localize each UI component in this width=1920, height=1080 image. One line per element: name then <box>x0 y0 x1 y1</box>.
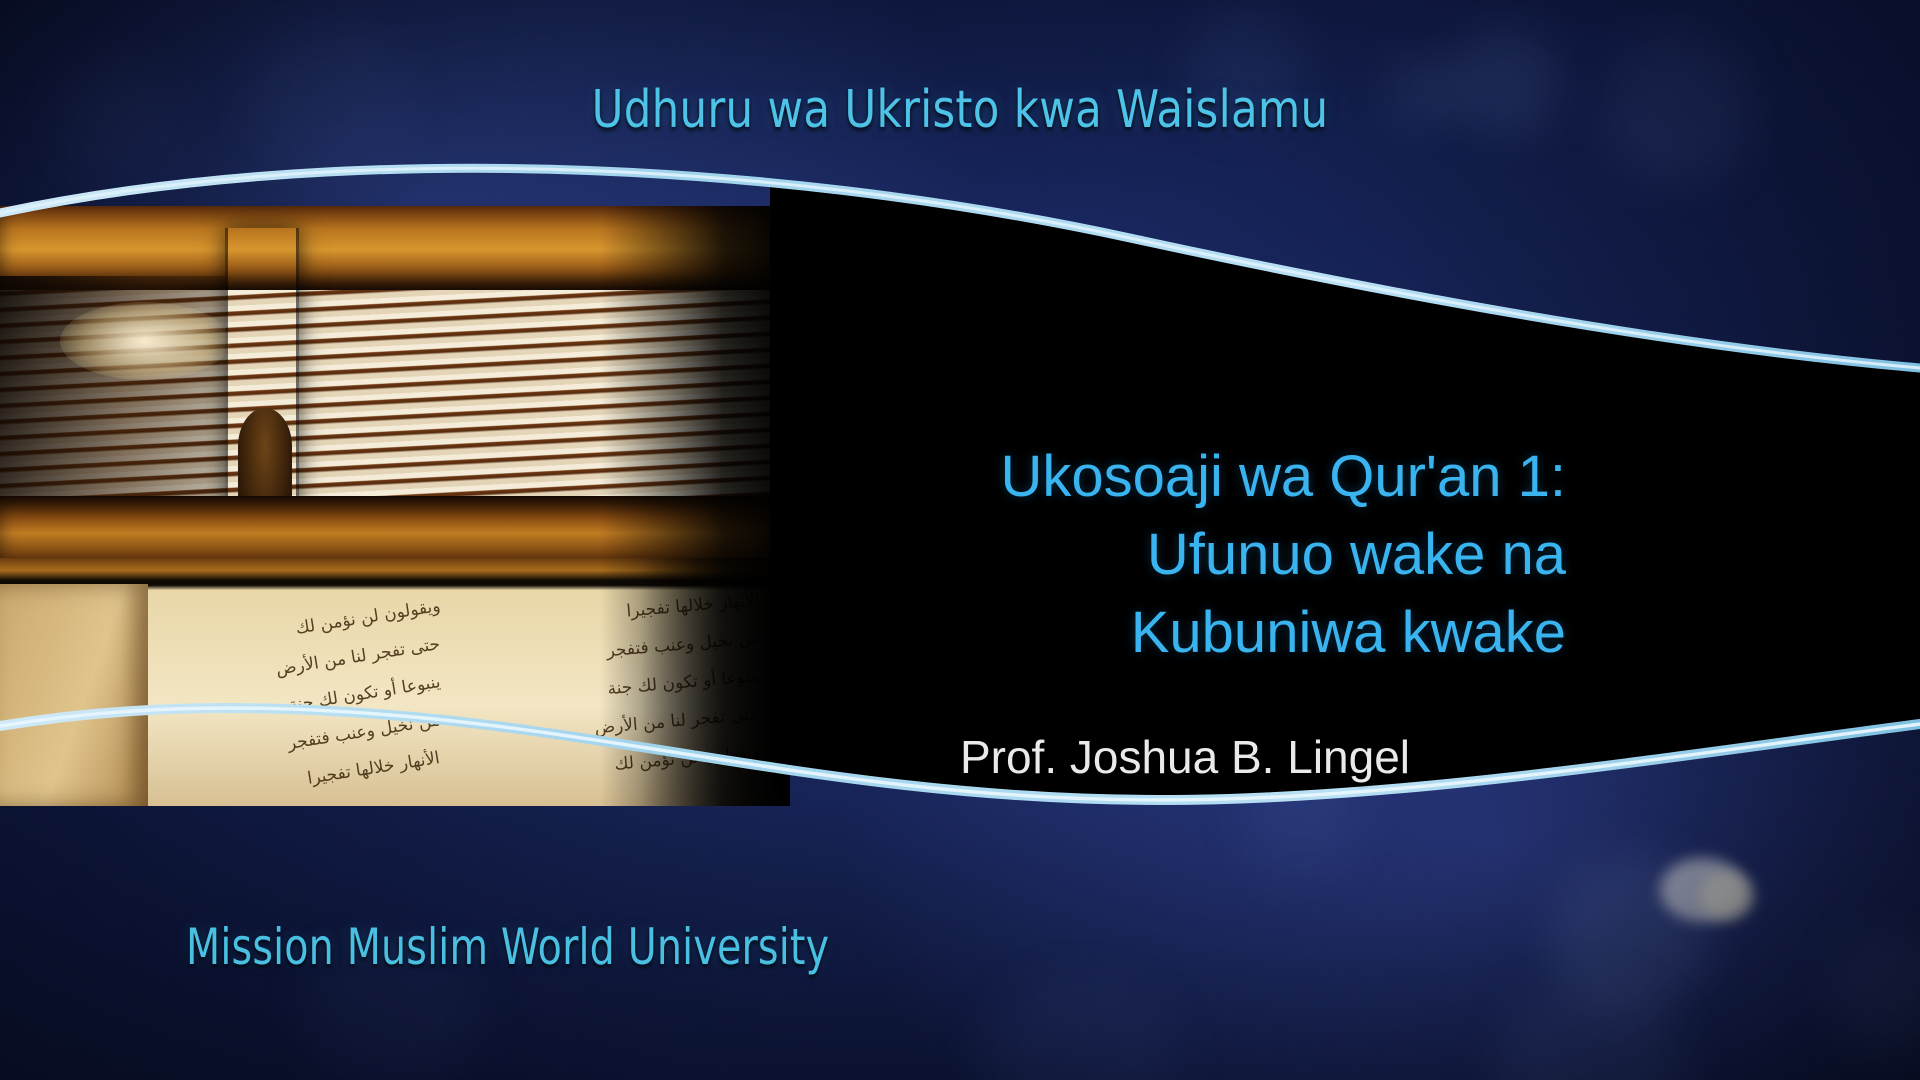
main-title-line-2: Ufunuo wake na <box>760 516 1566 594</box>
main-title-line-3: Kubuniwa kwake <box>760 594 1566 672</box>
speaker-byline: Prof. Joshua B. Lingel <box>760 730 1640 784</box>
main-title-line-1: Ukosoaji wa Qur'an 1: <box>760 438 1566 516</box>
main-title: Ukosoaji wa Qur'an 1: Ufunuo wake na Kub… <box>760 438 1640 672</box>
organization-footer: Mission Muslim World University <box>186 918 829 976</box>
presentation-slide: ويقولون لن نؤمن لك حتى تفجر لنا من الأرض… <box>0 0 1920 1080</box>
header-title: Udhuru wa Ukristo kwa Waislamu <box>67 80 1853 140</box>
